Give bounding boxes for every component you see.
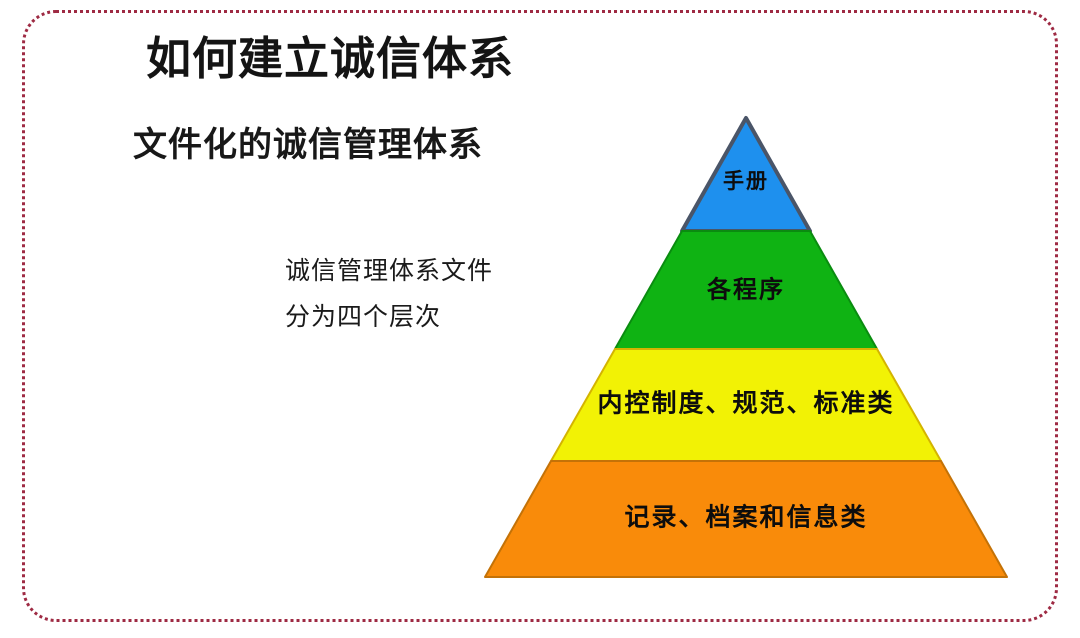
body-text-line-1: 诚信管理体系文件 — [285, 249, 493, 295]
pyramid-tier-4-label: 记录、档案和信息类 — [624, 503, 867, 532]
body-text-block: 诚信管理体系文件 分为四个层次 — [285, 249, 493, 342]
body-text-line-2: 分为四个层次 — [285, 295, 493, 341]
pyramid-tier-4[interactable]: 记录、档案和信息类 — [485, 461, 1007, 577]
pyramid-diagram: 手册 各程序 内控制度、规范、标准类 记录、档案和信息类 — [470, 105, 1022, 595]
pyramid-tier-3[interactable]: 内控制度、规范、标准类 — [551, 349, 941, 461]
page-title: 如何建立诚信体系 — [146, 36, 514, 83]
pyramid-tier-1[interactable]: 手册 — [682, 118, 810, 231]
pyramid-tier-1-label: 手册 — [723, 169, 769, 193]
pyramid-tier-2-label: 各程序 — [706, 276, 785, 304]
pyramid-tier-2[interactable]: 各程序 — [615, 231, 877, 349]
page-subtitle: 文件化的诚信管理体系 — [133, 127, 483, 164]
slide-canvas: 如何建立诚信体系 文件化的诚信管理体系 诚信管理体系文件 分为四个层次 手册 各… — [0, 0, 1080, 638]
pyramid-tier-3-label: 内控制度、规范、标准类 — [597, 389, 894, 418]
